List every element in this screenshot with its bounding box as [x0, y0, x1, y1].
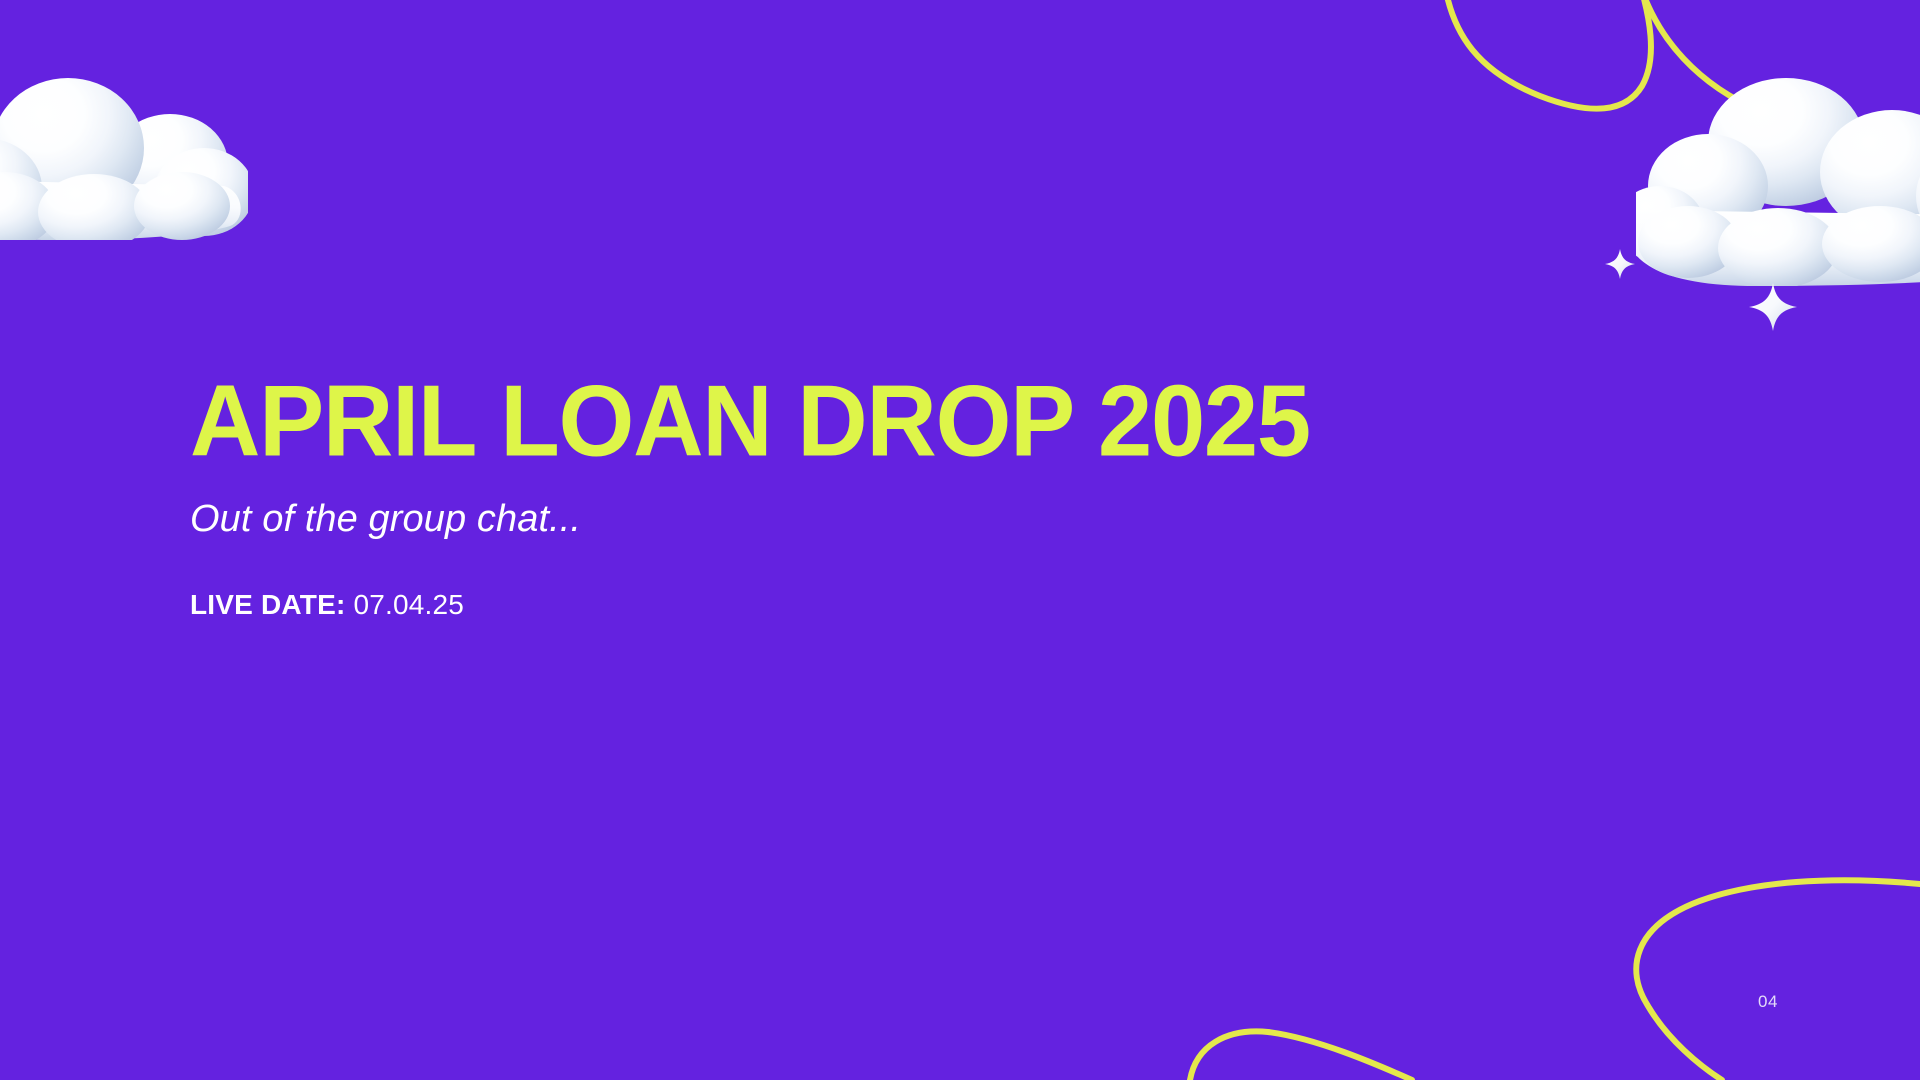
slide-title: APRIL LOAN DROP 2025 [190, 372, 1674, 471]
live-date-label: LIVE DATE: [190, 589, 345, 620]
sparkle-icon [1604, 248, 1636, 280]
sparkle-decoration-small [1604, 248, 1636, 280]
page-number: 04 [1758, 992, 1778, 1012]
sparkle-icon [1748, 282, 1798, 332]
cloud-decoration-left [0, 60, 248, 240]
cloud-icon [0, 60, 248, 240]
slide-text-block: APRIL LOAN DROP 2025 Out of the group ch… [190, 372, 1590, 621]
squiggle-top-right-arm-icon [1638, 0, 1920, 135]
slide-subtitle: Out of the group chat... [190, 498, 1590, 542]
squiggle-bottom-right-icon [1636, 880, 1920, 1080]
cloud-icon [1636, 76, 1920, 286]
live-date-line: LIVE DATE: 07.04.25 [190, 588, 1590, 622]
live-date-value: 07.04.25 [353, 589, 464, 620]
squiggle-bottom-edge-icon [1190, 1031, 1412, 1080]
sparkle-decoration-large [1748, 282, 1798, 332]
squiggle-top-right-icon [1444, 0, 1651, 109]
presentation-slide: APRIL LOAN DROP 2025 Out of the group ch… [0, 0, 1920, 1080]
cloud-decoration-right [1636, 76, 1920, 286]
